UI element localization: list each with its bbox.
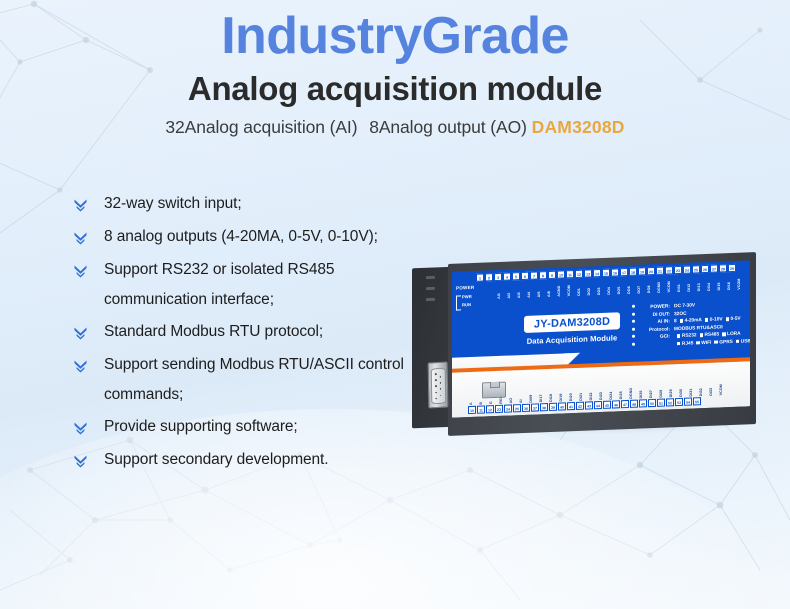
pin-label: AI bbox=[518, 386, 527, 403]
pin-label: DI22 bbox=[588, 383, 597, 400]
pin-label: DI30 bbox=[678, 380, 687, 397]
pin-label: DO4 bbox=[606, 277, 615, 294]
pin-label: DI27 bbox=[648, 381, 657, 398]
terminal-block: 11 bbox=[566, 270, 574, 278]
pin-label: DI13 bbox=[696, 274, 705, 291]
page-title: IndustryGrade bbox=[0, 8, 790, 64]
terminal-block: 3 bbox=[494, 273, 502, 281]
terminal-block: 26 bbox=[701, 265, 709, 273]
pin-label bbox=[476, 282, 485, 299]
terminal-block: 50 bbox=[648, 399, 656, 407]
terminal-block: 29 bbox=[728, 264, 736, 272]
spec-key: GCI: bbox=[638, 334, 670, 343]
side-indicator-leds bbox=[426, 276, 435, 309]
terminal-block: 11 bbox=[477, 405, 485, 413]
terminal-block: 48 bbox=[630, 400, 638, 408]
feature-list: 32-way switch input; 8 analog outputs (4… bbox=[74, 189, 424, 478]
double-chevron-down-icon bbox=[74, 412, 96, 443]
terminal-block: 12 bbox=[486, 405, 494, 413]
terminal-block: 47 bbox=[621, 400, 629, 408]
list-item: Support secondary development. bbox=[74, 445, 424, 476]
pin-label: DI12 bbox=[686, 274, 695, 291]
rj45-ethernet-port bbox=[482, 382, 506, 399]
terminal-block: 24 bbox=[683, 266, 691, 274]
terminal-block: 45 bbox=[603, 401, 611, 409]
terminal-block: 25 bbox=[513, 404, 521, 412]
terminal-block: 40 bbox=[558, 402, 566, 410]
list-item: Provide supporting software; bbox=[74, 412, 424, 443]
double-chevron-down-icon bbox=[74, 350, 96, 381]
terminal-block: 8 bbox=[539, 271, 547, 279]
terminal-block: 46 bbox=[612, 400, 620, 408]
pin-label: DI25 bbox=[618, 382, 627, 399]
terminal-block: 5 bbox=[512, 272, 520, 280]
terminal-block: 49 bbox=[639, 399, 647, 407]
pin-label: DI29 bbox=[668, 380, 677, 397]
pin-label: VCOM bbox=[566, 279, 575, 296]
terminal-block: 14 bbox=[593, 269, 601, 277]
pin-label: DO1 bbox=[576, 279, 585, 296]
pin-label: DI35 bbox=[638, 381, 647, 398]
pin-label: DI23 bbox=[598, 383, 607, 400]
terminal-block: 28 bbox=[719, 264, 727, 272]
feature-text: Support sending Modbus RTU/ASCII control… bbox=[104, 350, 424, 410]
terminal-block: 12 bbox=[575, 270, 583, 278]
pin-label: AI3 bbox=[516, 281, 525, 298]
terminal-block: 23 bbox=[495, 405, 503, 413]
pin-label: DO5 bbox=[616, 277, 625, 294]
terminal-block: 13 bbox=[584, 269, 592, 277]
feature-text: Standard Modbus RTU protocol; bbox=[104, 317, 323, 347]
terminal-block: 17 bbox=[620, 268, 628, 276]
terminal-block: 54 bbox=[684, 398, 692, 406]
pin-label: DO3 bbox=[596, 278, 605, 295]
terminal-block: 41 bbox=[567, 402, 575, 410]
description-ai: 32Analog acquisition (AI) bbox=[165, 117, 357, 137]
double-chevron-down-icon bbox=[74, 189, 96, 220]
model-number: DAM3208D bbox=[532, 117, 625, 137]
terminal-block: 53 bbox=[675, 398, 683, 406]
feature-text: 32-way switch input; bbox=[104, 189, 242, 219]
terminal-block: 39 bbox=[549, 403, 557, 411]
terminal-block: 38 bbox=[540, 403, 548, 411]
terminal-block: 16 bbox=[611, 268, 619, 276]
pin-label: AI2 bbox=[506, 281, 515, 298]
pin-label: DI18 bbox=[548, 385, 557, 402]
list-item: 32-way switch input; bbox=[74, 189, 424, 220]
pin-label: DI17 bbox=[538, 385, 547, 402]
pin-label: DI20 bbox=[568, 384, 577, 401]
terminal-block: 2 bbox=[485, 273, 493, 281]
db9-serial-port bbox=[428, 361, 449, 408]
terminal-block: 25 bbox=[692, 265, 700, 273]
pin-label: AO bbox=[508, 386, 517, 403]
spec-key bbox=[638, 345, 670, 346]
terminal-block: 55 bbox=[693, 397, 701, 405]
pin-label: DO8 bbox=[646, 276, 655, 293]
terminal-block: 15 bbox=[602, 269, 610, 277]
pin-label: DI24 bbox=[608, 382, 617, 399]
pin-label: DI21 bbox=[578, 384, 587, 401]
terminal-block: 22 bbox=[665, 266, 673, 274]
pin-label: DI11 bbox=[676, 275, 685, 292]
description-ao: 8Analog output (AO) bbox=[369, 117, 527, 137]
pin-label: DO7 bbox=[636, 276, 645, 293]
pin-label: DI31 bbox=[688, 379, 697, 396]
terminal-block: 20 bbox=[647, 267, 655, 275]
feature-text: Support RS232 or isolated RS485 communic… bbox=[104, 255, 424, 315]
product-image: POWER PWR RUN 12345678910111213141516171… bbox=[412, 258, 760, 443]
pin-label: VCOM bbox=[666, 275, 675, 292]
banner-header: IndustryGrade Analog acquisition module … bbox=[0, 8, 790, 138]
pin-label: AI4 bbox=[526, 281, 535, 298]
product-banner: IndustryGrade Analog acquisition module … bbox=[0, 0, 790, 609]
pin-label: DI19 bbox=[558, 384, 567, 401]
terminal-block: 19 bbox=[638, 267, 646, 275]
pin-label: DI28 bbox=[658, 380, 667, 397]
terminal-block: 51 bbox=[657, 399, 665, 407]
list-item: Support RS232 or isolated RS485 communic… bbox=[74, 255, 424, 315]
double-chevron-down-icon bbox=[74, 317, 96, 348]
pin-label: DGND bbox=[656, 276, 665, 293]
pin-label: DO6 bbox=[626, 277, 635, 294]
terminal-block: 7 bbox=[530, 271, 538, 279]
terminal-block: 36 bbox=[522, 404, 530, 412]
pin-label: DI33 bbox=[708, 379, 717, 396]
terminal-block: 44 bbox=[594, 401, 602, 409]
pin-label bbox=[486, 282, 495, 299]
terminal-block: 10 bbox=[468, 406, 476, 414]
terminal-block: 21 bbox=[656, 267, 664, 275]
terminal-block: 27 bbox=[710, 265, 718, 273]
pin-label: VCOM bbox=[718, 378, 727, 395]
terminal-block: 18 bbox=[629, 268, 637, 276]
terminal-block: 52 bbox=[666, 398, 674, 406]
pin-label: DI09 bbox=[528, 385, 537, 402]
terminal-block: 6 bbox=[521, 272, 529, 280]
pin-label: DGND bbox=[628, 382, 637, 399]
list-item: Standard Modbus RTU protocol; bbox=[74, 317, 424, 348]
list-item: 8 analog outputs (4-20MA, 0-5V, 0-10V); bbox=[74, 222, 424, 253]
pin-label: AI6 bbox=[546, 280, 555, 297]
pin-label bbox=[746, 272, 750, 289]
double-chevron-down-icon bbox=[74, 222, 96, 253]
feature-text: Support secondary development. bbox=[104, 445, 328, 475]
terminal-block: 1 bbox=[476, 273, 484, 281]
feature-text: Provide supporting software; bbox=[104, 412, 298, 442]
terminal-block: 4 bbox=[503, 272, 511, 280]
terminal-block: 37 bbox=[531, 403, 539, 411]
pin-label: DI14 bbox=[706, 274, 715, 291]
power-label: POWER bbox=[456, 285, 474, 291]
pin-label: DI16 bbox=[726, 273, 735, 290]
pin-label: DI15 bbox=[716, 273, 725, 290]
terminal-block: 24 bbox=[504, 404, 512, 412]
pin-label: VCOM bbox=[736, 272, 745, 289]
pin-label: AI5 bbox=[536, 280, 545, 297]
terminal-block: 23 bbox=[674, 266, 682, 274]
double-chevron-down-icon bbox=[74, 445, 96, 476]
led-group: PWR RUN bbox=[457, 293, 472, 310]
product-description: 32Analog acquisition (AI) 8Analog output… bbox=[0, 117, 790, 138]
terminal-block: 43 bbox=[585, 401, 593, 409]
pin-label: AGND bbox=[556, 279, 565, 296]
terminal-block: 10 bbox=[557, 270, 565, 278]
pin-label: AI1 bbox=[496, 282, 505, 299]
terminal-block: 9 bbox=[548, 271, 556, 279]
page-subtitle: Analog acquisition module bbox=[0, 70, 790, 108]
terminal-block: 42 bbox=[576, 402, 584, 410]
double-chevron-down-icon bbox=[74, 255, 96, 286]
pin-label: DO2 bbox=[586, 278, 595, 295]
pin-label: DI32 bbox=[698, 379, 707, 396]
pin-label: A bbox=[468, 388, 477, 405]
list-item: Support sending Modbus RTU/ASCII control… bbox=[74, 350, 424, 410]
feature-text: 8 analog outputs (4-20MA, 0-5V, 0-10V); bbox=[104, 222, 378, 252]
device-spec-list: POWER:DC 7-30VDI OUT:32OCAI IN:84-20mA0-… bbox=[632, 300, 748, 350]
